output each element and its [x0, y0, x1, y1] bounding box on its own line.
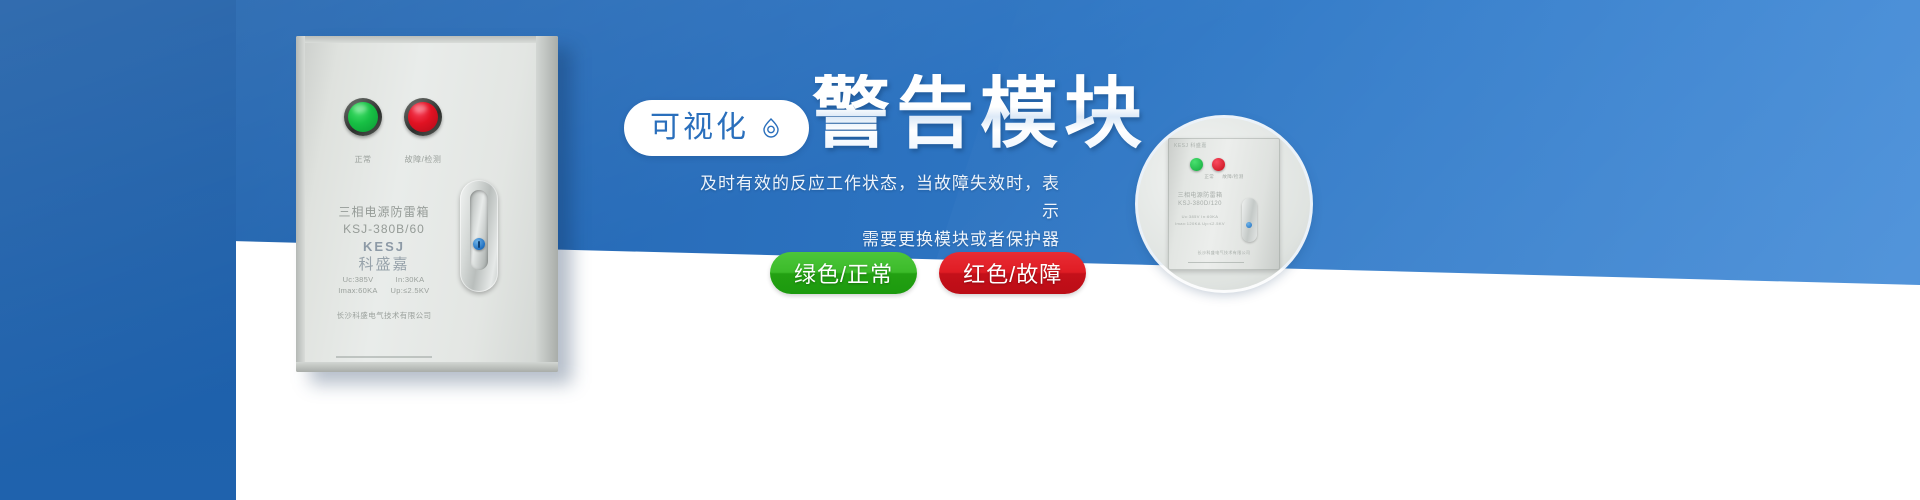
status-badge-fault[interactable]: 红色/故障 [939, 252, 1086, 294]
mini-lamp-label-normal: 正常 [1204, 174, 1214, 179]
spec-row-1: Uc:385VIn:30KA [314, 274, 454, 285]
mini-spec-line-2: Imax:120KA Up:≤2.5KV [1144, 221, 1256, 226]
spec-in: In:30KA [384, 274, 436, 285]
spec-uc: Uc:385V [332, 274, 384, 285]
status-badge-normal[interactable]: 绿色/正常 [770, 252, 917, 294]
status-badge-group: 绿色/正常 红色/故障 [770, 252, 1086, 294]
vent-line [336, 356, 432, 358]
cabinet-bottom-edge [296, 362, 558, 372]
pill-label: 可视化 [650, 113, 749, 143]
spec-imax: Imax:60KA [332, 285, 384, 296]
mini-brand-logo: KESJ 科盛嘉 [1174, 143, 1207, 150]
lamp-gloss [413, 104, 427, 113]
cabinet-body: 正常 故障/检测 三相电源防雷箱 KSJ-380B/60 KESJ 科盛嘉 Uc… [296, 36, 558, 372]
mini-door-handle [1242, 198, 1257, 242]
mini-product-model: KSJ-380D/120 [1144, 201, 1256, 207]
cabinet-top-edge [296, 36, 558, 43]
brand-cn-text: 科盛嘉 [314, 255, 454, 274]
eye-diamond-icon [759, 116, 783, 140]
mini-vent-line [1188, 262, 1244, 263]
green-indicator-label: 正常 [344, 154, 382, 165]
spec-up: Up:≤2.5KV [384, 285, 436, 296]
handle-slot [470, 190, 488, 270]
product-model-text: KSJ-380B/60 [314, 221, 454, 238]
company-name-text: 长沙科盛电气技术有限公司 [314, 310, 454, 321]
lamp-gloss [353, 104, 367, 113]
mini-lamp-labels: 正常 故障/检测 [1168, 174, 1280, 180]
cabinet-left-edge [296, 36, 305, 372]
cabinet-right-edge [536, 36, 558, 372]
red-indicator-lamp [404, 98, 442, 136]
product-name-text: 三相电源防雷箱 [314, 204, 454, 221]
mini-cabinet-body: KESJ 科盛嘉 正常 故障/检测 三相电源防雷箱 KSJ-380D/120 U… [1168, 138, 1280, 270]
spec-row-2: Imax:60KAUp:≤2.5KV [314, 285, 454, 296]
green-indicator-lamp [344, 98, 382, 136]
banner-stage: 正常 故障/检测 三相电源防雷箱 KSJ-380B/60 KESJ 科盛嘉 Uc… [0, 0, 1920, 500]
mini-product-name: 三相电源防雷箱 [1144, 190, 1256, 199]
subtitle: 及时有效的反应工作状态，当故障失效时，表示 需要更换模块或者保护器 [700, 170, 1060, 254]
visualization-pill-badge: 可视化 [624, 100, 809, 156]
subtitle-line-1: 及时有效的反应工作状态，当故障失效时，表示 [700, 170, 1060, 226]
subtitle-line-2: 需要更换模块或者保护器 [700, 226, 1060, 254]
page-title: 警告模块 [812, 74, 1148, 152]
mini-spec-line-1: Uc:385V In:60KA [1144, 214, 1256, 219]
product-image-main: 正常 故障/检测 三相电源防雷箱 KSJ-380B/60 KESJ 科盛嘉 Uc… [296, 36, 558, 372]
cabinet-label-plate: 三相电源防雷箱 KSJ-380B/60 KESJ 科盛嘉 Uc:385VIn:3… [314, 204, 454, 321]
cabinet-door-handle [460, 180, 498, 292]
brand-en-text: KESJ [314, 238, 454, 255]
mini-red-indicator [1212, 158, 1225, 171]
mini-green-indicator [1190, 158, 1203, 171]
product-closeup-circle: KESJ 科盛嘉 正常 故障/检测 三相电源防雷箱 KSJ-380D/120 U… [1138, 118, 1310, 290]
mini-lamp-label-fault: 故障/检测 [1222, 174, 1243, 179]
mini-company-name: 长沙科盛电气技术有限公司 [1168, 250, 1280, 256]
red-indicator-label: 故障/检测 [388, 154, 458, 165]
lock-icon [473, 238, 485, 250]
mini-lock-icon [1246, 222, 1252, 228]
